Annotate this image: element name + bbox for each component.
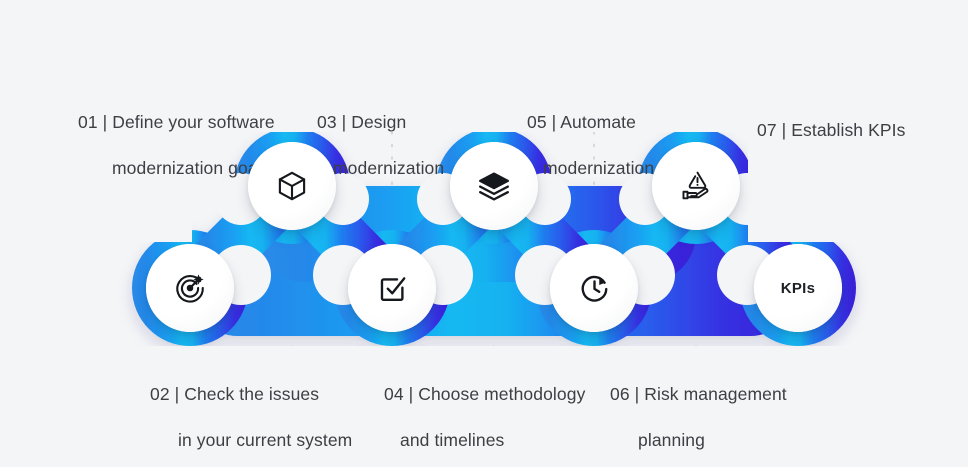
step-label-07: 07 | Establish KPIs	[757, 96, 957, 142]
step-02-line1: 02 | Check the issues	[150, 384, 319, 404]
step-node-04[interactable]	[348, 244, 436, 332]
hand-warning-icon	[679, 169, 713, 203]
step-node-05[interactable]	[450, 142, 538, 230]
step-label-02: 02 | Check the issues in your current sy…	[150, 360, 378, 452]
checkbox-check-icon	[376, 272, 409, 305]
step-05-line1: 05 | Automate	[527, 112, 636, 132]
clock-refresh-icon	[578, 272, 611, 305]
step-label-06: 06 | Risk management planning	[610, 360, 830, 452]
node-face-07	[652, 142, 740, 230]
layers-stack-icon	[477, 169, 511, 203]
step-04-line2: and timelines	[384, 429, 504, 452]
step-07-line1: 07 | Establish KPIs	[757, 120, 905, 140]
step-02-line2: in your current system	[150, 429, 352, 452]
infographic-canvas: 01 | Define your software modernization …	[0, 0, 968, 467]
step-01-line2: modernization goals	[78, 157, 271, 180]
node-face-04	[348, 244, 436, 332]
step-node-06[interactable]	[550, 244, 638, 332]
step-01-line1: 01 | Define your software	[78, 112, 275, 132]
step-03-line2: modernization	[317, 157, 444, 180]
step-06-line2: planning	[610, 429, 705, 452]
step-label-04: 04 | Choose methodology and timelines	[384, 360, 612, 452]
kpis-label: KPIs	[781, 280, 816, 297]
step-node-03[interactable]	[248, 142, 336, 230]
node-face-05	[450, 142, 538, 230]
step-node-01[interactable]	[146, 244, 234, 332]
node-face-kpis: KPIs	[754, 244, 842, 332]
node-face-01	[146, 244, 234, 332]
step-04-line1: 04 | Choose methodology	[384, 384, 585, 404]
step-03-line1: 03 | Design	[317, 112, 406, 132]
node-face-03	[248, 142, 336, 230]
step-node-07[interactable]	[652, 142, 740, 230]
target-arrow-icon	[173, 271, 207, 305]
cube-icon	[275, 169, 309, 203]
end-node-kpis[interactable]: KPIs	[754, 244, 842, 332]
step-06-line1: 06 | Risk management	[610, 384, 787, 404]
step-05-line2: modernization	[527, 157, 654, 180]
node-face-06	[550, 244, 638, 332]
